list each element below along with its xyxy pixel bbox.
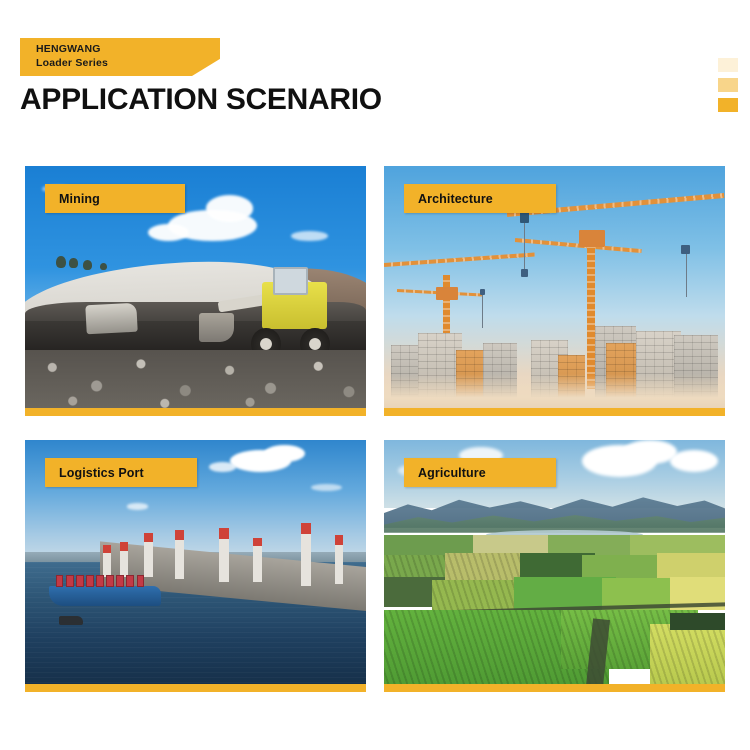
card-label-logistics-port: Logistics Port <box>45 458 197 487</box>
card-label-architecture: Architecture <box>404 184 556 213</box>
brand-name: HENGWANG <box>36 42 220 56</box>
square-icon-light <box>718 58 738 72</box>
agriculture-photo: Agriculture <box>384 440 725 684</box>
card-label-text: Mining <box>59 192 100 206</box>
architecture-photo: Architecture <box>384 166 725 408</box>
card-label-text: Agriculture <box>418 466 486 480</box>
mining-photo: Mining <box>25 166 366 408</box>
scenario-grid: Mining <box>25 166 725 692</box>
card-accent-bar <box>384 408 725 416</box>
card-accent-bar <box>384 684 725 692</box>
card-accent-bar <box>25 408 366 416</box>
scenario-card-mining[interactable]: Mining <box>25 166 366 416</box>
square-icon-solid <box>718 98 738 112</box>
stacked-squares-decoration <box>718 58 738 112</box>
card-label-agriculture: Agriculture <box>404 458 556 487</box>
card-accent-bar <box>25 684 366 692</box>
page-header: HENGWANG Loader Series APPLICATION SCENA… <box>0 0 750 150</box>
square-icon-medium <box>718 78 738 92</box>
brand-tag: HENGWANG Loader Series <box>20 38 220 76</box>
card-label-text: Architecture <box>418 192 493 206</box>
scenario-card-logistics-port[interactable]: Logistics Port <box>25 440 366 692</box>
scenario-card-agriculture[interactable]: Agriculture <box>384 440 725 692</box>
page-title: APPLICATION SCENARIO <box>20 82 382 118</box>
logistics-port-photo: Logistics Port <box>25 440 366 684</box>
scenario-card-architecture[interactable]: Architecture <box>384 166 725 416</box>
card-label-text: Logistics Port <box>59 466 144 480</box>
brand-series: Loader Series <box>36 56 220 70</box>
card-label-mining: Mining <box>45 184 185 213</box>
application-scenario-page: HENGWANG Loader Series APPLICATION SCENA… <box>0 0 750 750</box>
